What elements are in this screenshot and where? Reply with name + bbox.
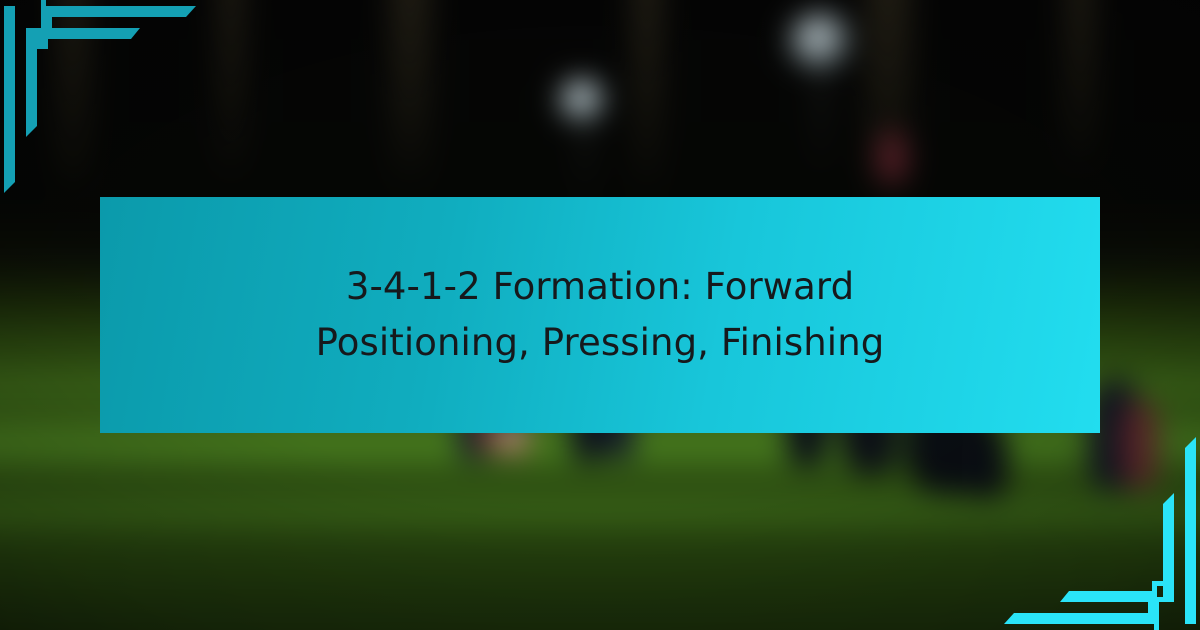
bracket-line-left-outer <box>4 6 15 193</box>
top-left-bracket-ornament <box>0 0 230 210</box>
bracket-line-bottom-outer <box>1004 613 1148 624</box>
bottom-right-bracket-ornament <box>970 420 1200 630</box>
bracket-square-edge <box>43 28 48 49</box>
title-line-2: Pressing, Finishing <box>542 321 885 364</box>
bracket-line-bottom-inner <box>1060 591 1122 602</box>
page-title: 3-4-1-2 Formation: Forward Positioning, … <box>240 259 960 371</box>
bracket-line-top-inner <box>78 28 140 39</box>
bracket-square-edge <box>1152 581 1157 602</box>
bracket-square-edge <box>27 28 32 49</box>
banner-canvas: 3-4-1-2 Formation: Forward Positioning, … <box>0 0 1200 630</box>
bracket-connector <box>48 28 80 39</box>
title-banner: 3-4-1-2 Formation: Forward Positioning, … <box>100 197 1100 433</box>
bracket-line-top-outer <box>52 6 196 17</box>
bracket-tick <box>1154 620 1159 630</box>
bracket-tick <box>41 0 46 10</box>
bracket-connector <box>1120 591 1152 602</box>
bracket-square-edge <box>1168 581 1173 602</box>
bracket-line-right-outer <box>1185 437 1196 624</box>
